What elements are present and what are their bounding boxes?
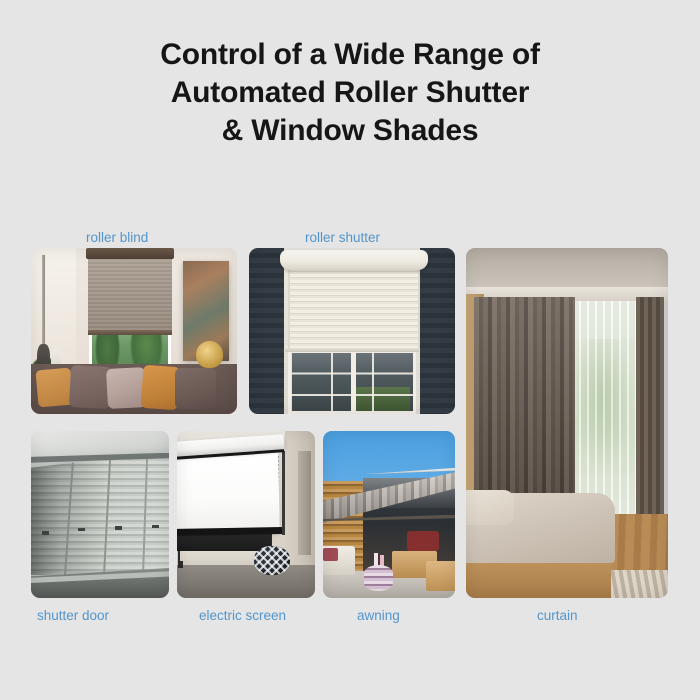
- shutter-door-scene: [31, 431, 169, 598]
- gallery-label-electric-screen: electric screen: [199, 608, 286, 624]
- gallery-image-curtain[interactable]: [466, 248, 668, 598]
- curtain-scene: [466, 248, 668, 598]
- electric-screen-scene: [177, 431, 315, 598]
- gallery-label-roller-shutter: roller shutter: [305, 230, 380, 246]
- gallery-label-curtain: curtain: [537, 608, 578, 624]
- gallery-image-shutter-door[interactable]: [31, 431, 169, 598]
- gallery-label-roller-blind: roller blind: [86, 230, 148, 246]
- roller-blind-scene: [31, 248, 237, 414]
- awning-scene: [323, 431, 455, 598]
- gallery-image-roller-shutter[interactable]: [249, 248, 455, 414]
- gallery-label-awning: awning: [357, 608, 400, 624]
- gallery-image-roller-blind[interactable]: [31, 248, 237, 414]
- roller-shutter-scene: [249, 248, 455, 414]
- product-gallery: roller blind roller shutter: [0, 0, 700, 700]
- gallery-image-electric-screen[interactable]: [177, 431, 315, 598]
- gallery-image-awning[interactable]: [323, 431, 455, 598]
- gallery-label-shutter-door: shutter door: [37, 608, 109, 624]
